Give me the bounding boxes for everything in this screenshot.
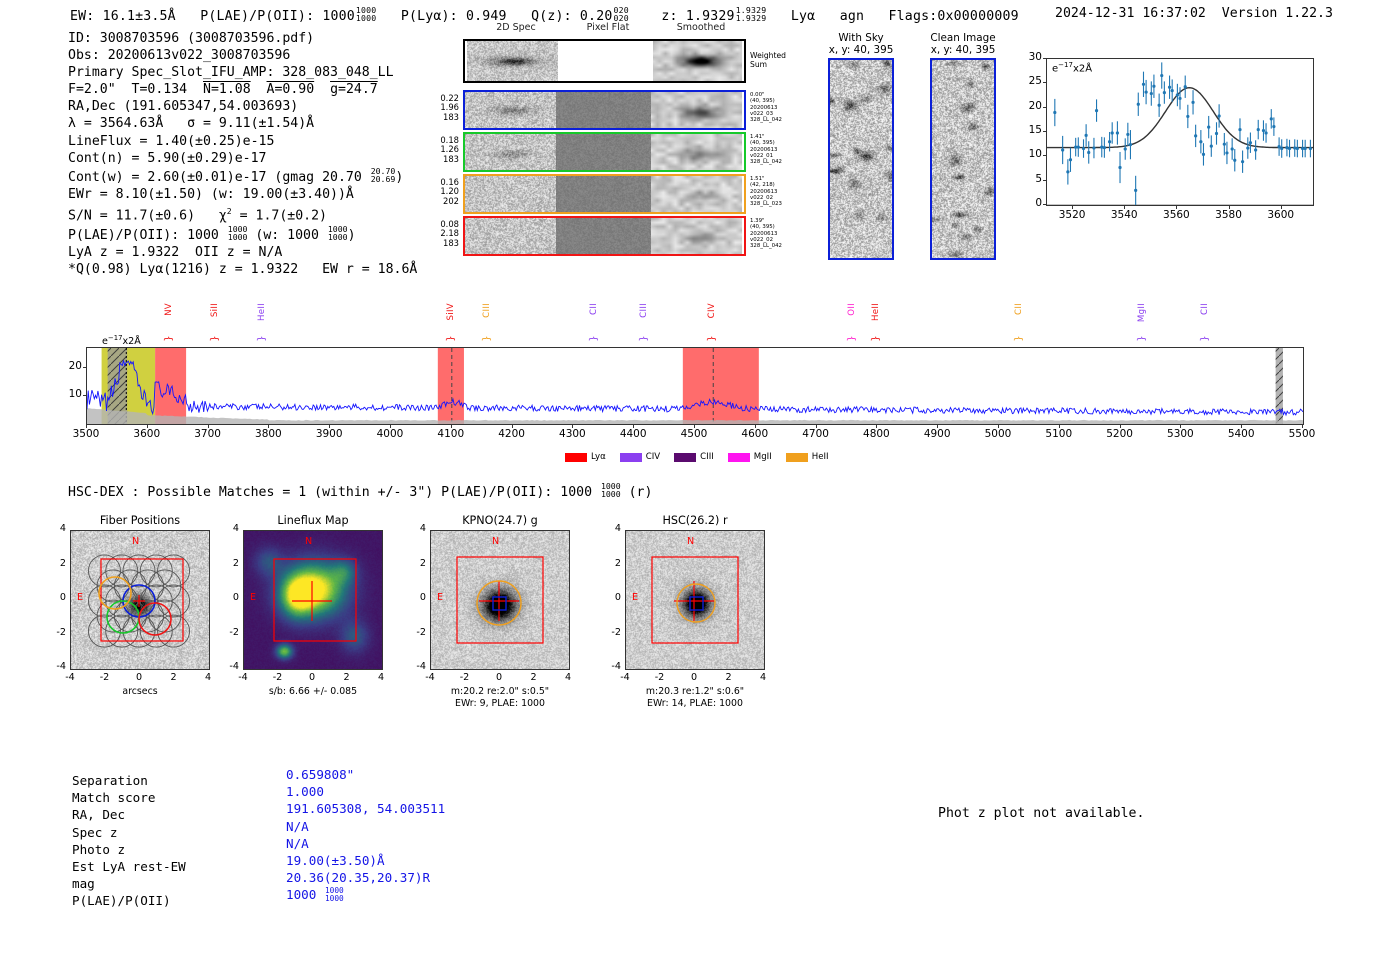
cutout-4-xtick: 2 — [715, 672, 743, 683]
emission-bracket-10: { — [1013, 335, 1024, 341]
info-n-value: N=1.08 — [203, 82, 251, 97]
cutout-2-ytick: 0 — [219, 592, 239, 603]
emission-label-heii-2: HeII — [257, 303, 267, 321]
cutout-4-xtick: 4 — [749, 672, 777, 683]
cutout-2-title: Lineflux Map — [218, 514, 408, 527]
cutout-3-subline-2: EWr: 9, PLAE: 1000 — [400, 698, 600, 710]
full-spectrum-xtick-mark — [268, 425, 269, 428]
emission-label-civ-7: CIV — [707, 303, 717, 318]
spec2d-row-2-right-value: 328_LL_042 — [750, 159, 782, 165]
cutout-2-image — [243, 530, 383, 670]
info-slot: Primary Spec_Slot_IFU_AMP: 328_083_048_L… — [68, 64, 417, 81]
emission-label-heii-9: HeII — [871, 303, 881, 321]
full-spectrum-xtick: 4300 — [552, 428, 592, 440]
cutout-1-xtick: -2 — [91, 672, 119, 683]
cutout-4-title: HSC(26.2) r — [600, 514, 790, 527]
emission-label-siiv-3: SiIV — [446, 303, 456, 320]
match-table-value-3: 191.605308, 54.003511 — [286, 800, 445, 817]
cutout-3-compass-e: E — [437, 592, 443, 603]
emission-bracket-4: { — [481, 335, 492, 341]
cutout-3-subline-1: m:20.2 re:2.0" s:0.5" — [400, 686, 600, 698]
cutout-3-image — [430, 530, 570, 670]
full-spectrum-xtick-mark — [451, 425, 452, 428]
info-plae: P(LAE)/P(OII): 1000 10001000 (w: 1000 10… — [68, 225, 417, 244]
source-info-block: ID: 3008703596 (3008703596.pdf) Obs: 202… — [68, 30, 417, 278]
emission-bracket-12: { — [1198, 335, 1209, 341]
full-spectrum-xtick: 4500 — [674, 428, 714, 440]
cutout-2-xtick: -4 — [229, 672, 257, 683]
spec2d-row-2-right-value: 20200613 — [750, 147, 782, 153]
full-spectrum-xtick-mark — [816, 425, 817, 428]
spec2d-row-3-left-labels: 0.161.20202 — [425, 178, 459, 206]
spec2d-row-3 — [463, 174, 746, 214]
plae-label: P(LAE)/P(OII): — [200, 9, 314, 24]
spec2d-row-4-right-labels: 1.39"(40, 395)20200613v022_02328_LL_042 — [750, 218, 782, 249]
line-name: Lyα — [791, 9, 815, 24]
full-spectrum-ytick: 20 — [60, 360, 82, 372]
spec2d-row-4-right-value: 20200613 — [750, 231, 782, 237]
match-table-label-7: mag — [72, 875, 186, 892]
emission-bracket-1: { — [209, 335, 220, 341]
match-table-plae-range: 10001000 — [325, 887, 344, 903]
match-table-label-8: P(LAE)/P(OII) — [72, 892, 186, 909]
info-sn: S/N = 11.7(±0.6) χ2 = 1.7(±0.2) — [68, 203, 417, 224]
full-spectrum-xtick: 4100 — [431, 428, 471, 440]
cutout-3-compass-n: N — [492, 536, 499, 547]
spec2d-row-1 — [463, 90, 746, 130]
spec2d-row-4-left-labels: 0.082.18183 — [425, 220, 459, 248]
line-fit-ytick: 15 — [1022, 124, 1042, 136]
emission-label-cii-5: CII — [589, 303, 599, 315]
sky-thumb-1-sub: x, y: 40, 395 — [806, 44, 916, 56]
cutout-1-xtick: 2 — [160, 672, 188, 683]
line-fit-ytick-mark — [1043, 204, 1046, 205]
full-spectrum-xtick-mark — [572, 425, 573, 428]
match-table-value-2: 1.000 — [286, 783, 445, 800]
emission-label-nv-0: NV — [164, 303, 174, 316]
line-fit-xtick: 3560 — [1158, 209, 1194, 221]
full-spectrum-xtick-mark — [86, 425, 87, 428]
info-z: LyA z = 1.9322 OII z = N/A — [68, 244, 417, 261]
info-fitparams: F=2.0" T=0.134 N=1.08 A=0.90 g=24.7 — [68, 81, 417, 98]
full-spectrum-ytick-mark — [83, 395, 86, 396]
emission-label-oii-8: OII — [847, 303, 857, 316]
emission-label-ciii-6: CIII — [639, 303, 649, 318]
info-radec: RA,Dec (191.605347,54.003693) — [68, 98, 417, 115]
full-spectrum-xtick: 4800 — [856, 428, 896, 440]
plae-range: 10001000 — [356, 6, 376, 23]
cutout-1-image — [70, 530, 210, 670]
cutout-2-ytick: -4 — [219, 661, 239, 672]
emission-label-ciii-4: CIII — [482, 303, 492, 318]
emission-bracket-9: { — [870, 335, 881, 341]
full-spectrum-xtick: 4600 — [735, 428, 775, 440]
match-table-label-3: RA, Dec — [72, 806, 186, 823]
cutout-4-compass-n: N — [687, 536, 694, 547]
cutout-3-xtick: 4 — [554, 672, 582, 683]
cutout-2-ytick: 2 — [219, 558, 239, 569]
cutout-4-ytick: -2 — [601, 627, 621, 638]
emission-bracket-5: { — [587, 335, 598, 341]
cutout-2-subcaption: s/b: 6.66 +/- 0.085 — [213, 686, 413, 698]
emission-label-cii-12: CII — [1200, 303, 1210, 315]
info-g-value: g=24.7 — [330, 82, 378, 97]
match-table-label-6: Est LyA rest-EW — [72, 858, 186, 875]
hsc-plae-range: 10001000 — [601, 482, 621, 499]
cutout-2-xtick: 2 — [333, 672, 361, 683]
cutout-4-xtick: 0 — [680, 672, 708, 683]
full-spectrum-xtick: 4700 — [796, 428, 836, 440]
cutout-1-xtick: 4 — [194, 672, 222, 683]
legend-label-civ: CIV — [646, 452, 660, 462]
full-spectrum-flux-annotation: e−17x2Å — [102, 334, 141, 347]
emission-label-siii-1: SiII — [210, 303, 220, 317]
full-spectrum-xtick-mark — [208, 425, 209, 428]
spec2d-weighted-sum-strip — [463, 39, 746, 83]
full-spectrum-xtick-mark — [633, 425, 634, 428]
emission-bracket-8: { — [846, 335, 857, 341]
cutout-4-ytick: -4 — [601, 661, 621, 672]
line-fit-flux-annotation: e−17x2Å — [1052, 61, 1092, 74]
emission-bracket-11: { — [1136, 335, 1147, 341]
full-spectrum-xtick-mark — [755, 425, 756, 428]
cutout-1-title: Fiber Positions — [45, 514, 235, 527]
cutout-2-compass-e: E — [250, 592, 256, 603]
full-spectrum-xtick-mark — [1059, 425, 1060, 428]
match-table-value-8: 1000 10001000 — [286, 886, 445, 903]
full-spectrum-xtick: 4200 — [492, 428, 532, 440]
full-spectrum-xtick: 5200 — [1100, 428, 1140, 440]
sky-thumb-2-title: Clean Image — [908, 32, 1018, 44]
cutout-3-ytick: 4 — [406, 523, 426, 534]
cutout-4-subline-2: EWr: 14, PLAE: 1000 — [595, 698, 795, 710]
legend-swatch-mgii — [728, 453, 750, 462]
legend-item-heii: HeII — [786, 452, 829, 462]
match-table-plae-value: 1000 — [286, 887, 316, 902]
cutout-3-title: KPNO(24.7) g — [405, 514, 595, 527]
cutout-1-ytick: 0 — [46, 592, 66, 603]
version: Version 1.22.3 — [1222, 6, 1333, 21]
sky-thumb-2-caption: Clean Imagex, y: 40, 395 — [908, 32, 1018, 57]
emission-label-mgii-11: MgII — [1137, 303, 1147, 322]
info-ewr: EWr = 8.10(±1.50) (w: 19.00(±3.40))Å — [68, 186, 417, 203]
spec2d-row-2 — [463, 132, 746, 172]
line-fit-ytick: 25 — [1022, 75, 1042, 87]
line-fit-ytick-mark — [1043, 131, 1046, 132]
cutout-1-subline-1: arcsecs — [40, 686, 240, 698]
line-fit-ytick: 30 — [1022, 51, 1042, 63]
cutout-4-subcaption: m:20.3 re:1.2" s:0.6"EWr: 14, PLAE: 1000 — [595, 686, 795, 709]
line-fit-xtick: 3540 — [1106, 209, 1142, 221]
spec2d-row-3-right-labels: 1.51"(42, 218)20200613v022_02328_LL_023 — [750, 176, 782, 207]
spec2d-row-3-right-value: 20200613 — [750, 189, 782, 195]
match-table-value-4: N/A — [286, 818, 445, 835]
legend-label-ciii: CIII — [700, 452, 714, 462]
sky-thumb-2-image — [930, 58, 996, 260]
emission-bracket-7: { — [706, 335, 717, 341]
full-spectrum-xtick: 3900 — [309, 428, 349, 440]
full-spectrum-xtick-mark — [1241, 425, 1242, 428]
line-fit-ytick: 5 — [1022, 173, 1042, 185]
info-id: ID: 3008703596 (3008703596.pdf) — [68, 30, 417, 47]
legend-label-lyα: Lyα — [591, 452, 606, 462]
sky-thumb-1-title: With Sky — [806, 32, 916, 44]
line-fit-ytick: 0 — [1022, 197, 1042, 209]
emission-bracket-0: { — [163, 335, 174, 341]
legend-label-heii: HeII — [812, 452, 829, 462]
cutout-2-xtick: 4 — [367, 672, 395, 683]
emission-bracket-2: { — [256, 335, 267, 341]
cutout-4-ytick: 0 — [601, 592, 621, 603]
line-fit-ytick: 10 — [1022, 148, 1042, 160]
full-spectrum-xtick: 5400 — [1221, 428, 1261, 440]
hsc-dex-match-line: HSC-DEX : Possible Matches = 1 (within +… — [68, 482, 652, 500]
legend-swatch-civ — [620, 453, 642, 462]
cutout-4-ytick: 4 — [601, 523, 621, 534]
full-spectrum-xtick-mark — [390, 425, 391, 428]
match-table-label-1: Separation — [72, 772, 186, 789]
cutout-2-xtick: 0 — [298, 672, 326, 683]
timestamp: 2024-12-31 16:37:02 — [1055, 6, 1206, 21]
cutout-2-compass-n: N — [305, 536, 312, 547]
cutout-1-ytick: 2 — [46, 558, 66, 569]
line-fit-ytick-mark — [1043, 180, 1046, 181]
info-lambda: λ = 3564.63Å σ = 9.11(±1.54)Å — [68, 115, 417, 132]
cutout-1-compass-e: E — [77, 592, 83, 603]
cutout-3-ytick: -4 — [406, 661, 426, 672]
cutout-1-ytick: 4 — [46, 523, 66, 534]
full-spectrum-xtick: 3500 — [66, 428, 106, 440]
emission-label-cii-10: CII — [1014, 303, 1024, 315]
match-table-label-4: Spec z — [72, 824, 186, 841]
full-spectrum-xtick: 4900 — [917, 428, 957, 440]
full-spectrum-xtick-mark — [694, 425, 695, 428]
class-label: agn — [840, 9, 864, 24]
hsc-line-post: (r) — [621, 485, 653, 500]
full-spectrum-xtick: 5500 — [1282, 428, 1322, 440]
info-cont-w: Cont(w) = 2.60(±0.01)e-17 (gmag 20.70 20… — [68, 167, 417, 186]
spec2d-row-4 — [463, 216, 746, 256]
header-timestamp-version: 2024-12-31 16:37:02 Version 1.22.3 — [1055, 6, 1333, 21]
info-lineflux: LineFlux = 1.40(±0.25)e-15 — [68, 133, 417, 150]
cutout-3-subcaption: m:20.2 re:2.0" s:0.5"EWr: 9, PLAE: 1000 — [400, 686, 600, 709]
line-fit-ytick-mark — [1043, 155, 1046, 156]
match-table-labels: SeparationMatch scoreRA, DecSpec zPhoto … — [72, 772, 186, 910]
cutout-4-subline-1: m:20.3 re:1.2" s:0.6" — [595, 686, 795, 698]
ew-label: EW: — [70, 9, 94, 24]
info-obs: Obs: 20200613v022_3008703596 — [68, 47, 417, 64]
spec2d-col-header-2: Pixel Flat — [573, 22, 643, 33]
line-fit-ytick-mark — [1043, 82, 1046, 83]
full-spectrum-xtick-mark — [1180, 425, 1181, 428]
cutout-1-xtick: -4 — [56, 672, 84, 683]
plya-label: P(Lyα): — [401, 9, 458, 24]
cutout-3-ytick: -2 — [406, 627, 426, 638]
full-spectrum-xtick-mark — [1302, 425, 1303, 428]
cutout-4-xtick: -2 — [646, 672, 674, 683]
cutout-3-xtick: 0 — [485, 672, 513, 683]
line-fit-xtick-mark — [1281, 206, 1282, 209]
info-cont-n: Cont(n) = 5.90(±0.29)e-17 — [68, 150, 417, 167]
legend-label-mgii: MgII — [754, 452, 772, 462]
legend-item-lyα: Lyα — [565, 452, 606, 462]
full-spectrum-ytick-mark — [83, 367, 86, 368]
match-table-label-2: Match score — [72, 789, 186, 806]
full-spectrum-xtick: 5000 — [978, 428, 1018, 440]
spec2d-weighted-sum-label: Weighted Sum — [750, 52, 786, 69]
line-fit-xtick: 3580 — [1211, 209, 1247, 221]
sky-thumb-1-caption: With Skyx, y: 40, 395 — [806, 32, 916, 57]
spec2d-row-1-right-value: 20200613 — [750, 105, 782, 111]
line-fit-xtick: 3600 — [1263, 209, 1299, 221]
flags-label: Flags:0x00000009 — [889, 9, 1019, 24]
spec2d-row-1-right-labels: 0.00"(40, 395)20200613v022_03328_LL_042 — [750, 92, 782, 123]
legend-item-civ: CIV — [620, 452, 660, 462]
spec2d-row-3-right-value: 328_LL_023 — [750, 201, 782, 207]
full-spectrum-xtick-mark — [512, 425, 513, 428]
full-spectrum-xtick: 5300 — [1160, 428, 1200, 440]
match-table-value-5: N/A — [286, 835, 445, 852]
emission-bracket-6: { — [638, 335, 649, 341]
sky-thumb-1-image — [828, 58, 894, 260]
full-spectrum-xtick: 3800 — [248, 428, 288, 440]
cutout-1-xtick: 0 — [125, 672, 153, 683]
spec2d-row-1-right-value: 328_LL_042 — [750, 117, 782, 123]
cutout-2-subline-1: s/b: 6.66 +/- 0.085 — [213, 686, 413, 698]
cutout-3-xtick: -2 — [451, 672, 479, 683]
ew-value: 16.1±3.5Å — [103, 9, 176, 24]
sky-thumb-2-sub: x, y: 40, 395 — [908, 44, 1018, 56]
spec2d-col-header-1: 2D Spec — [481, 22, 551, 33]
full-spectrum-xtick-mark — [147, 425, 148, 428]
cutout-3-xtick: 2 — [520, 672, 548, 683]
spec2d-col-header-3: Smoothed — [666, 22, 736, 33]
z-range: 1.93291.9329 — [736, 6, 767, 23]
legend-item-ciii: CIII — [674, 452, 714, 462]
line-fit-xtick-mark — [1124, 206, 1125, 209]
match-table-value-6: 19.00(±3.50)Å — [286, 852, 445, 869]
line-fit-xtick: 3520 — [1054, 209, 1090, 221]
match-table-label-5: Photo z — [72, 841, 186, 858]
info-a-value: A=0.90 — [267, 82, 315, 97]
cutout-4-compass-e: E — [632, 592, 638, 603]
cutout-2-ytick: -2 — [219, 627, 239, 638]
full-spectrum-axes — [86, 347, 1304, 425]
legend-swatch-heii — [786, 453, 808, 462]
full-spectrum-xtick-mark — [1120, 425, 1121, 428]
spec2d-row-4-left-value: 183 — [425, 239, 459, 248]
qz-range: 020020 — [613, 6, 628, 23]
cutout-4-ytick: 2 — [601, 558, 621, 569]
line-fit-xtick-mark — [1072, 206, 1073, 209]
line-fit-ytick-mark — [1043, 107, 1046, 108]
full-spectrum-xtick: 5100 — [1039, 428, 1079, 440]
cutout-4-image — [625, 530, 765, 670]
photz-note: Phot z plot not available. — [938, 806, 1144, 821]
match-table-value-1: 0.659808" — [286, 766, 445, 783]
spec2d-row-1-left-labels: 0.221.96183 — [425, 94, 459, 122]
line-fit-axes — [1046, 58, 1314, 206]
cutout-3-xtick: -4 — [416, 672, 444, 683]
info-q: *Q(0.98) Lyα(1216) z = 1.9322 EW r = 18.… — [68, 261, 417, 278]
cutout-1-ytick: -2 — [46, 627, 66, 638]
emission-bracket-3: { — [444, 335, 455, 341]
plae-value: 1000 — [322, 9, 355, 24]
spec2d-row-1-left-value: 183 — [425, 113, 459, 122]
spec2d-row-2-left-value: 183 — [425, 155, 459, 164]
legend-swatch-ciii — [674, 453, 696, 462]
line-fit-xtick-mark — [1229, 206, 1230, 209]
emission-line-legend: LyαCIVCIIIMgIIHeII — [565, 452, 829, 462]
cutout-2-xtick: -2 — [264, 672, 292, 683]
cutout-1-ytick: -4 — [46, 661, 66, 672]
full-spectrum-xtick: 3700 — [188, 428, 228, 440]
spec2d-row-2-right-labels: 1.41"(40, 395)20200613v022_01328_LL_042 — [750, 134, 782, 165]
cutout-1-subcaption: arcsecs — [40, 686, 240, 698]
spec2d-row-3-left-value: 202 — [425, 197, 459, 206]
cutout-1-compass-n: N — [132, 536, 139, 547]
full-spectrum-xtick-mark — [998, 425, 999, 428]
full-spectrum-ytick: 10 — [60, 388, 82, 400]
cutout-3-ytick: 2 — [406, 558, 426, 569]
full-spectrum-xtick-mark — [937, 425, 938, 428]
full-spectrum-xtick: 4400 — [613, 428, 653, 440]
legend-swatch-lyα — [565, 453, 587, 462]
line-fit-xtick-mark — [1176, 206, 1177, 209]
line-fit-ytick: 20 — [1022, 100, 1042, 112]
line-fit-ytick-mark — [1043, 58, 1046, 59]
hsc-line-pre: HSC-DEX : Possible Matches = 1 (within +… — [68, 485, 600, 500]
cutout-4-xtick: -4 — [611, 672, 639, 683]
legend-item-mgii: MgII — [728, 452, 772, 462]
spec2d-row-4-right-value: 328_LL_042 — [750, 243, 782, 249]
cutout-2-ytick: 4 — [219, 523, 239, 534]
spec2d-row-2-left-labels: 0.181.26183 — [425, 136, 459, 164]
full-spectrum-xtick-mark — [876, 425, 877, 428]
full-spectrum-xtick: 4000 — [370, 428, 410, 440]
full-spectrum-xtick-mark — [329, 425, 330, 428]
match-table-values: 0.659808"1.000191.605308, 54.003511N/AN/… — [286, 766, 445, 904]
cutout-3-ytick: 0 — [406, 592, 426, 603]
match-table-value-7: 20.36(20.35,20.37)R — [286, 869, 445, 886]
full-spectrum-xtick: 3600 — [127, 428, 167, 440]
